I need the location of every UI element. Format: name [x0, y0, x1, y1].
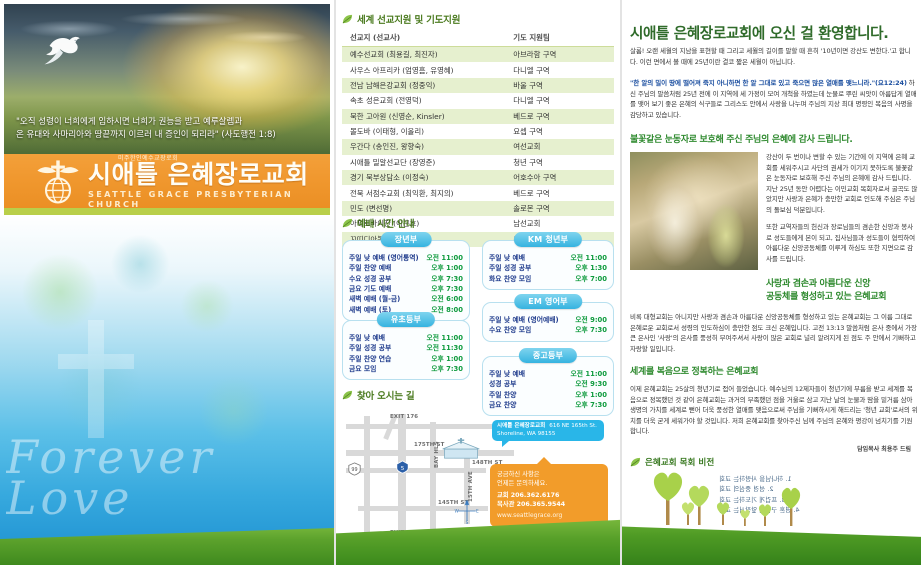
heading-conquer: 세계를 복음으로 정복하는 은혜교회: [630, 364, 918, 377]
schedule-service-time: 오전 11:00: [426, 253, 463, 263]
mission-field-cell: 전북 서점수교회 (최익환, 최지의): [342, 185, 505, 200]
mission-field-cell: 예수선교회 (최용길, 최진자): [342, 47, 505, 63]
directions-section: 찾아 오시는 길 EXIT 176 175TH ST 148TH ST 145T…: [342, 388, 614, 541]
location-map[interactable]: EXIT 176 175TH ST 148TH ST 145TH ST EXIT…: [342, 406, 614, 541]
table-row: 예수선교회 (최용길, 최진자)아브라함 구역: [342, 47, 614, 63]
schedule-service-time: 오전 11:00: [570, 369, 607, 379]
mission-field-cell: 속초 성은교회 (전영덕): [342, 93, 505, 108]
mission-field-cell: 우간다 (송인진, 왕향숙): [342, 139, 505, 154]
mission-table-header-row: 선교지 (선교사) 기도 지원팀: [342, 30, 614, 47]
mission-col-field: 선교지 (선교사): [342, 30, 505, 47]
intro-paragraph: 살롬! 오랜 세월의 지남을 표현할 때 그리고 세월의 길이를 말할 때 흔히…: [630, 46, 918, 67]
mission-table: 선교지 (선교사) 기도 지원팀 예수선교회 (최용길, 최진자)아브라함 구역…: [342, 30, 614, 247]
callout-address-1: 616 NE 165th St.: [549, 423, 597, 431]
worship-heading-label: 예배 시간 안내: [357, 216, 414, 230]
table-row: 우간다 (송인진, 왕향숙)여선교회: [342, 139, 614, 154]
cross-watermark-icon: [58, 320, 134, 438]
schedule-box-title: 중고등부: [519, 348, 577, 363]
heading-community-line-2: 공동체를 형성하고 있는 은혜교회: [766, 291, 918, 304]
mission-heading-label: 세계 선교지원 및 기도지원: [357, 12, 460, 26]
schedule-service-name: 주일 찬양 연습: [349, 354, 391, 364]
church-building-icon: [438, 438, 484, 460]
schedule-service-time: 오후 1:30: [575, 263, 607, 273]
dove-icon: [42, 29, 84, 69]
schedule-row: 주일 찬양 예배오후 1:00: [349, 263, 463, 273]
schedule-box-title: EM 영어부: [514, 294, 582, 309]
schedule-row: 주일 낮 예배오전 11:00: [349, 333, 463, 343]
schedule-row: 주일 낮 예배오전 11:00: [489, 253, 607, 263]
child-figure: [704, 196, 748, 268]
conquer-paragraph: 이제 은혜교회는 25살의 청년기로 접어 들었습니다. 예수님의 12제자들이…: [630, 384, 918, 437]
schedule-row: 주일 낮 예배오전 11:00: [489, 369, 607, 379]
inquiry-website[interactable]: www.seattlegrace.org: [497, 511, 601, 520]
grass-hill-left: [0, 523, 334, 565]
inquiry-contact-callout: 궁금하신 사항은 언제든 문의하세요. 교회 206.362.6176 목사관 …: [490, 464, 608, 527]
highway-shield-99-icon: 99: [348, 462, 361, 476]
green-divider-rule: [4, 208, 330, 215]
mission-field-cell: 경기 북부상담소 (이정숙): [342, 170, 505, 185]
worship-schedule-section: 예배 시간 안내 장년부주일 낮 예배 (영어통역)오전 11:00주일 찬양 …: [342, 216, 614, 404]
panel-left-cover: "오직 성령이 너희에게 임하시면 너희가 권능을 받고 예루살렘과 온 유대와…: [0, 0, 334, 565]
callout-address-2: Shoreline, WA 98155: [497, 431, 555, 439]
map-heading-label: 찾아 오시는 길: [357, 388, 414, 402]
schedule-service-time: 오전 11:00: [570, 253, 607, 263]
jesus-figure: [642, 170, 708, 266]
schedule-row: 수요 찬양 모임오후 7:30: [489, 325, 607, 335]
jesus-with-child-photo: [630, 152, 758, 270]
map-heading-row: 찾아 오시는 길: [342, 388, 614, 402]
schedule-service-time: 오전 8:00: [431, 305, 463, 315]
schedule-row: 새벽 예배 (월-금)오전 6:00: [349, 294, 463, 304]
svg-text:N: N: [465, 500, 468, 506]
table-row: 경기 북부상담소 (이정숙)어호수아 구역: [342, 170, 614, 185]
inquiry-line-2: 언제든 문의하세요.: [497, 479, 601, 488]
leaf-bullet-icon: [342, 218, 353, 229]
mission-prayerteam-cell: 베드로 구역: [505, 109, 614, 124]
table-row: 전북 서점수교회 (최익환, 최지의)베드로 구역: [342, 185, 614, 200]
mission-prayerteam-cell: 솔로몬 구역: [505, 201, 614, 216]
leaf-bullet-icon: [630, 457, 641, 468]
church-name-english: SEATTLE GRACE PRESBYTERIAN CHURCH: [88, 189, 330, 209]
schedule-service-time: 오후 1:00: [431, 263, 463, 273]
schedule-service-name: 주일 찬양 예배: [349, 263, 391, 273]
community-paragraph: 비록 대형교회는 아니지만 사랑과 겸손과 아름다운 신앙공동체를 형성하고 있…: [630, 312, 918, 354]
schedule-box: EM 영어부주일 낮 예배 (영어예배)오전 9:00수요 찬양 모임오후 7:…: [482, 302, 614, 342]
mission-prayerteam-cell: 다니엘 구역: [505, 93, 614, 108]
table-row: 속초 성은교회 (전영덕)다니엘 구역: [342, 93, 614, 108]
logo-text-group: 미주한인예수교장로회 시애틀 은혜장로교회 SEATTLE GRACE PRES…: [88, 153, 330, 208]
script-watermark-text: Forever Love: [6, 437, 226, 527]
schedule-service-time: 오전 11:30: [426, 343, 463, 353]
schedule-row: 금요 기도 예배오후 7:30: [349, 284, 463, 294]
mission-col-prayerteam: 기도 지원팀: [505, 30, 614, 47]
callout-church-name: 시애틀 은혜장로교회: [497, 423, 545, 431]
schedule-service-name: 주일 낮 예배 (영어예배): [489, 315, 559, 325]
schedule-service-name: 주일 낮 예배: [349, 333, 385, 343]
scripture-quote-line-1: "오직 성령이 너희에게 임하시면 너희가 권능을 받고 예루살렘과: [16, 116, 318, 129]
mission-prayerteam-cell: 베드로 구역: [505, 185, 614, 200]
schedule-row: 화요 찬양 모임오후 7:00: [489, 274, 607, 284]
brochure-page: "오직 성령이 너희에게 임하시면 너희가 권능을 받고 예루살렘과 온 유대와…: [0, 0, 921, 565]
schedule-service-time: 오전 11:00: [426, 333, 463, 343]
fold-line-left: [334, 0, 336, 565]
grace-paragraph-1: 강산이 두 번이나 변할 수 있는 기간에 이 지역에 은혜 교회를 세워주시고…: [766, 152, 918, 215]
schedule-box-title: KM 청년부: [514, 232, 582, 247]
table-row: 전남 남해은강교회 (정중익)바울 구역: [342, 78, 614, 93]
compass-rose-icon: N S E W: [454, 498, 480, 524]
panel-middle: 세계 선교지원 및 기도지원 선교지 (선교사) 기도 지원팀 예수선교회 (최…: [336, 0, 620, 565]
callout-address-row-2: Shoreline, WA 98155: [497, 431, 599, 439]
schedule-service-time: 오후 7:30: [431, 274, 463, 284]
mission-prayerteam-cell: 아브라함 구역: [505, 47, 614, 63]
schedule-service-name: 화요 찬양 모임: [489, 274, 531, 284]
schedule-service-time: 오후 7:00: [575, 274, 607, 284]
svg-text:5: 5: [401, 466, 405, 472]
church-address-callout: 시애틀 은혜장로교회 616 NE 165th St. Shoreline, W…: [492, 420, 604, 441]
schedule-row: 주일 찬양 연습오후 1:00: [349, 354, 463, 364]
svg-text:W: W: [454, 509, 459, 515]
mission-prayerteam-cell: 요셉 구역: [505, 124, 614, 139]
schedule-box: KM 청년부주일 낮 예배오전 11:00주일 성경 공부오후 1:30화요 찬…: [482, 240, 614, 290]
church-name-korean: 시애틀 은혜장로교회: [88, 162, 330, 188]
church-logo-icon: [32, 157, 84, 205]
mission-field-cell: 북한 고아원 (신영순, Kinsler): [342, 109, 505, 124]
svg-text:S: S: [466, 520, 469, 524]
road-vertical-3: [430, 422, 436, 534]
grace-paragraph-2: 또한 교역자들의 헌신과 장로님들의 겸손한 신앙과 봉사로 성도들에게 본이 …: [766, 222, 918, 264]
schedule-service-time: 오후 7:30: [575, 325, 607, 335]
leaf-bullet-icon: [342, 14, 353, 25]
church-logo-banner: 미주한인예수교장로회 시애틀 은혜장로교회 SEATTLE GRACE PRES…: [4, 154, 330, 208]
panel-right-welcome: 시애틀 은혜장로교회에 오신 걸 환영합니다. 살롬! 오랜 세월의 지남을 표…: [622, 0, 921, 565]
schedule-box: 유초등부주일 낮 예배오전 11:00주일 성경 공부오전 11:30주일 찬양…: [342, 320, 470, 380]
mission-prayerteam-cell: 어호수아 구역: [505, 170, 614, 185]
scripture-quote-band: "오직 성령이 너희에게 임하시면 너희가 권능을 받고 예루살렘과 온 유대와…: [4, 104, 330, 154]
schedule-box-title: 장년부: [381, 232, 432, 247]
schedule-service-name: 주일 성경 공부: [489, 263, 531, 273]
road-vertical-1: [364, 416, 370, 534]
table-row: 민도 (변선명)솔로몬 구역: [342, 201, 614, 216]
road-label-exit176: EXIT 176: [390, 414, 418, 420]
schedule-service-time: 오후 7:30: [431, 364, 463, 374]
road-horizontal-1: [346, 424, 506, 429]
schedule-service-time: 오후 7:30: [431, 284, 463, 294]
schedule-service-name: 새벽 예배 (월-금): [349, 294, 400, 304]
schedule-service-time: 오전 6:00: [431, 294, 463, 304]
schedule-box-title: 유초등부: [377, 312, 435, 327]
mission-field-cell: 민도 (변선명): [342, 201, 505, 216]
schedule-service-name: 수요 찬양 모임: [489, 325, 531, 335]
verse-reference: (요12:24): [875, 79, 907, 87]
mission-field-cell: 시애틀 밀알선교단 (장영준): [342, 155, 505, 170]
fold-line-right: [620, 0, 622, 565]
schedule-row: 수요 성경 공부오후 7:30: [349, 274, 463, 284]
schedule-service-name: 금요 기도 예배: [349, 284, 391, 294]
inquiry-parsonage-phone: 목사관 206.365.9544: [497, 501, 565, 508]
vision-heading-row: 은혜교회 목회 비전: [630, 456, 714, 468]
blue-decorative-artwork: Forever Love 담임목사 PASTOR: 최용주 (MOSES CHO…: [0, 215, 334, 565]
road-vertical-2: [398, 414, 406, 536]
pastor-signature: 담임목사 최용주 드림: [857, 444, 911, 453]
schedule-row: 주일 낮 예배 (영어통역)오전 11:00: [349, 253, 463, 263]
table-row: 시애틀 밀알선교단 (장영준)청년 구역: [342, 155, 614, 170]
callout-name-row: 시애틀 은혜장로교회 616 NE 165th St.: [497, 423, 599, 431]
table-row: 몰도바 (이태형, 이올리)요셉 구역: [342, 124, 614, 139]
schedule-row: 주일 성경 공부오전 11:30: [349, 343, 463, 353]
mission-heading-row: 세계 선교지원 및 기도지원: [342, 12, 614, 26]
worship-heading-row: 예배 시간 안내: [342, 216, 614, 230]
schedule-row: 주일 성경 공부오후 1:30: [489, 263, 607, 273]
schedule-service-name: 수요 성경 공부: [349, 274, 391, 284]
verse-quote: "한 알의 밀이 땅에 떨어져 죽지 아니하면 한 알 그대로 있고 죽으면 많…: [630, 79, 875, 87]
mission-field-cell: 몰도바 (이태형, 이올리): [342, 124, 505, 139]
table-row: 사우스 아프리카 (엄영흠, 유영혜)다니엘 구역: [342, 62, 614, 77]
schedule-service-time: 오후 1:00: [431, 354, 463, 364]
schedule-service-name: 주일 낮 예배: [489, 369, 525, 379]
schedule-box: 장년부주일 낮 예배 (영어통역)오전 11:00주일 찬양 예배오후 1:00…: [342, 240, 470, 321]
vision-heading-label: 은혜교회 목회 비전: [645, 456, 714, 468]
mission-prayerteam-cell: 다니엘 구역: [505, 62, 614, 77]
schedule-row: 주일 낮 예배 (영어예배)오전 9:00: [489, 315, 607, 325]
mission-field-cell: 사우스 아프리카 (엄영흠, 유영혜): [342, 62, 505, 77]
heading-community-line-1: 사랑과 겸손과 아름다운 신앙: [766, 278, 918, 291]
schedule-service-name: 주일 낮 예배: [489, 253, 525, 263]
mission-support-section: 세계 선교지원 및 기도지원 선교지 (선교사) 기도 지원팀 예수선교회 (최…: [342, 12, 614, 247]
schedule-service-name: 주일 성경 공부: [349, 343, 391, 353]
svg-text:99: 99: [351, 467, 357, 473]
heading-grace: 불꽃같은 눈동자로 보호해 주신 주님의 은혜에 감사 드립니다.: [630, 132, 918, 145]
schedule-service-time: 오전 9:00: [575, 315, 607, 325]
table-row: 북한 고아원 (신영순, Kinsler)베드로 구역: [342, 109, 614, 124]
mission-prayerteam-cell: 여선교회: [505, 139, 614, 154]
worship-schedule-grid: 장년부주일 낮 예배 (영어통역)오전 11:00주일 찬양 예배오후 1:00…: [342, 234, 614, 404]
heart-trees-decoration: [640, 469, 840, 529]
schedule-row: 금요 모임오후 7:30: [349, 364, 463, 374]
scripture-quote-line-2: 온 유대와 사마리아와 땅끝까지 이르러 내 증인이 되리라" (사도행전 1:…: [16, 129, 318, 142]
inquiry-church-phone: 교회 206.362.6176: [497, 492, 559, 499]
leaf-bullet-icon: [342, 390, 353, 401]
schedule-service-name: 주일 낮 예배 (영어통역): [349, 253, 419, 263]
welcome-title: 시애틀 은혜장로교회에 오신 걸 환영합니다.: [630, 22, 918, 43]
heading-community: 사랑과 겸손과 아름다운 신앙 공동체를 형성하고 있는 은혜교회: [766, 278, 918, 304]
mission-field-cell: 전남 남해은강교회 (정중익): [342, 78, 505, 93]
mission-prayerteam-cell: 바울 구역: [505, 78, 614, 93]
svg-text:E: E: [476, 509, 479, 515]
verse-paragraph: "한 알의 밀이 땅에 떨어져 죽지 아니하면 한 알 그대로 있고 죽으면 많…: [630, 78, 918, 120]
inquiry-line-1: 궁금하신 사항은: [497, 470, 601, 479]
highway-shield-5-icon: 5: [396, 460, 409, 474]
mission-prayerteam-cell: 청년 구역: [505, 155, 614, 170]
schedule-service-name: 금요 모임: [349, 364, 376, 374]
